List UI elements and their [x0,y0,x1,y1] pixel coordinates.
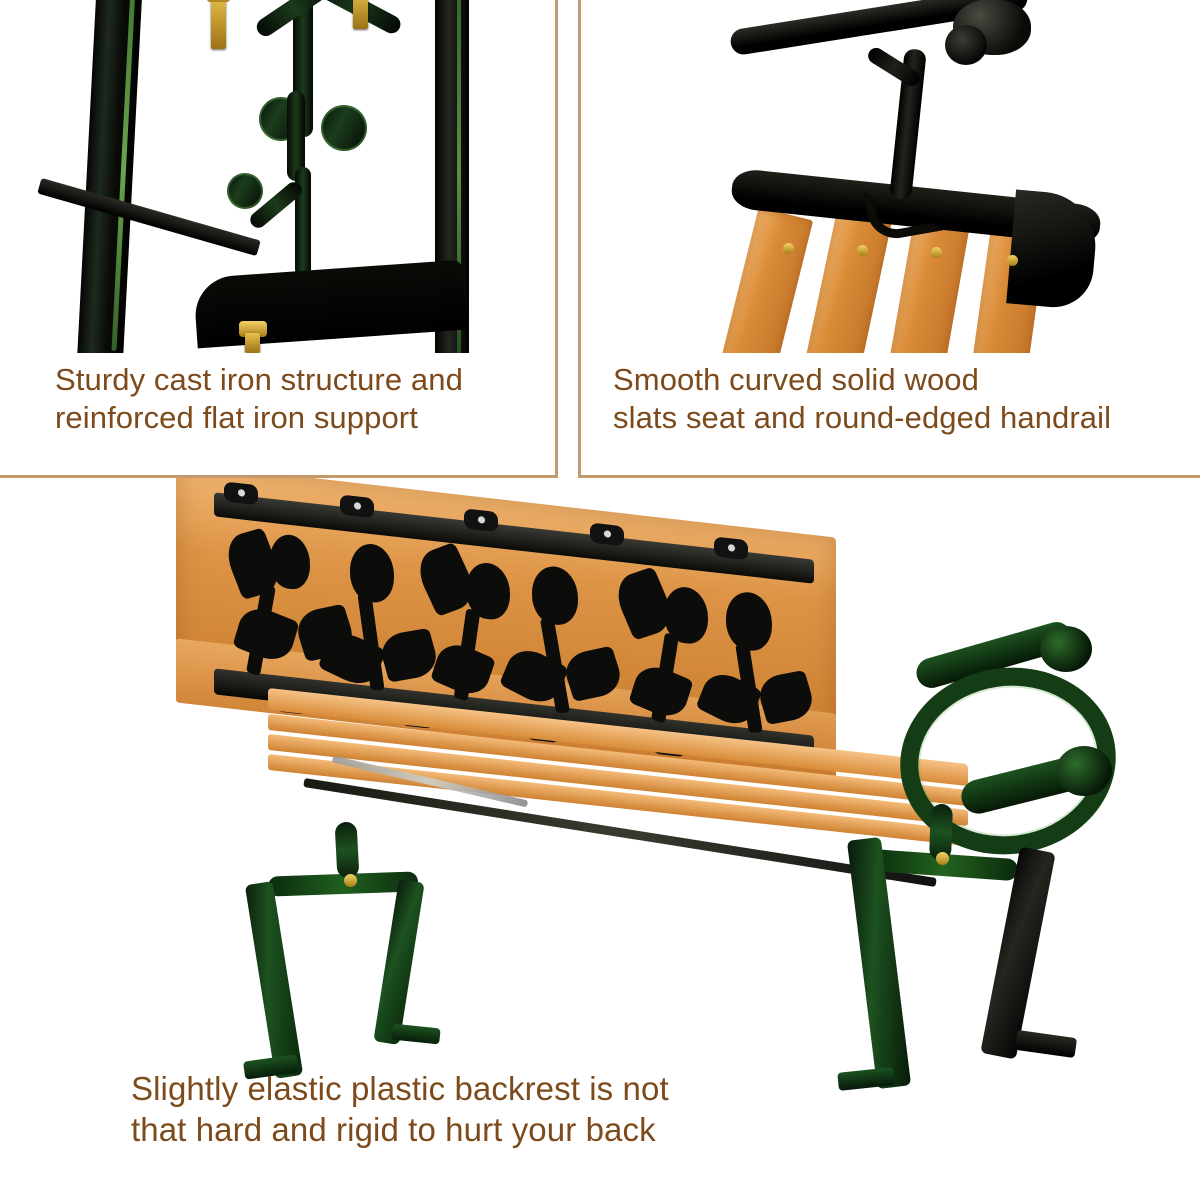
caption-line-2: slats seat and round-edged handrail [613,399,1200,437]
left-front-leg [245,881,303,1079]
caption-line-1: Smooth curved solid wood [613,361,1200,399]
brass-screw-slat-3 [931,247,942,258]
feature-caption-left: Sturdy cast iron structure and reinforce… [0,353,555,475]
brass-screw-slat-4 [1007,255,1018,266]
iron-leg-column [77,0,142,353]
wood-slats-handrail-photo [581,0,1200,353]
floral-motif-leaf [628,659,693,723]
top-feature-row: Sturdy cast iron structure and reinforce… [0,0,1200,478]
caption-line-2: that hard and rigid to hurt your back [131,1109,669,1150]
handrail-illustration [581,0,1200,353]
armrest-scroll-end [1040,626,1092,672]
feature-caption-right: Smooth curved solid wood slats seat and … [581,353,1200,475]
brass-bolt-top-right [353,0,368,29]
backrest-screw [354,502,361,510]
floral-motif-bud [726,590,772,653]
left-leg-ornament [335,821,360,878]
brass-bolt-bottom [245,333,260,353]
caption-line-1: Slightly elastic plastic backrest is not [131,1068,669,1109]
floral-motif-leaf [754,670,817,725]
brass-screw-slat-1 [783,243,794,254]
armrest-lower-scroll-end [1056,746,1112,796]
cast-iron-illustration [0,0,555,353]
caption-line-1: Sturdy cast iron structure and [55,361,555,399]
floral-motif-leaf [430,637,496,702]
caption-line-2: reinforced flat iron support [55,399,555,437]
hero-product-panel: Slightly elastic plastic backrest is not… [0,478,1200,1186]
backrest-screw [238,489,245,497]
backrest-screw [478,516,485,524]
floral-motif-leaf [560,646,626,702]
brass-bolt-right-leg [936,852,949,865]
floral-motif-bud [532,564,578,627]
floral-motif-bud [350,542,394,605]
hero-caption: Slightly elastic plastic backrest is not… [131,1068,669,1150]
brass-bolt-left-leg [344,874,357,887]
right-rear-foot [1015,1030,1077,1058]
backrest-screw [604,530,611,538]
cast-iron-structure-photo [0,0,555,353]
brass-bolt-head-top-left [207,0,230,2]
backrest-screw [728,544,735,552]
brass-bolt-top-left [211,0,226,49]
handrail-scroll-inner [945,25,987,65]
wood-slat-1 [713,207,813,353]
feature-panel-right: Smooth curved solid wood slats seat and … [578,0,1200,478]
brass-screw-slat-2 [857,245,868,256]
feature-panel-left: Sturdy cast iron structure and reinforce… [0,0,558,478]
floral-motif-leaf [232,601,299,667]
left-rear-leg [373,879,424,1045]
